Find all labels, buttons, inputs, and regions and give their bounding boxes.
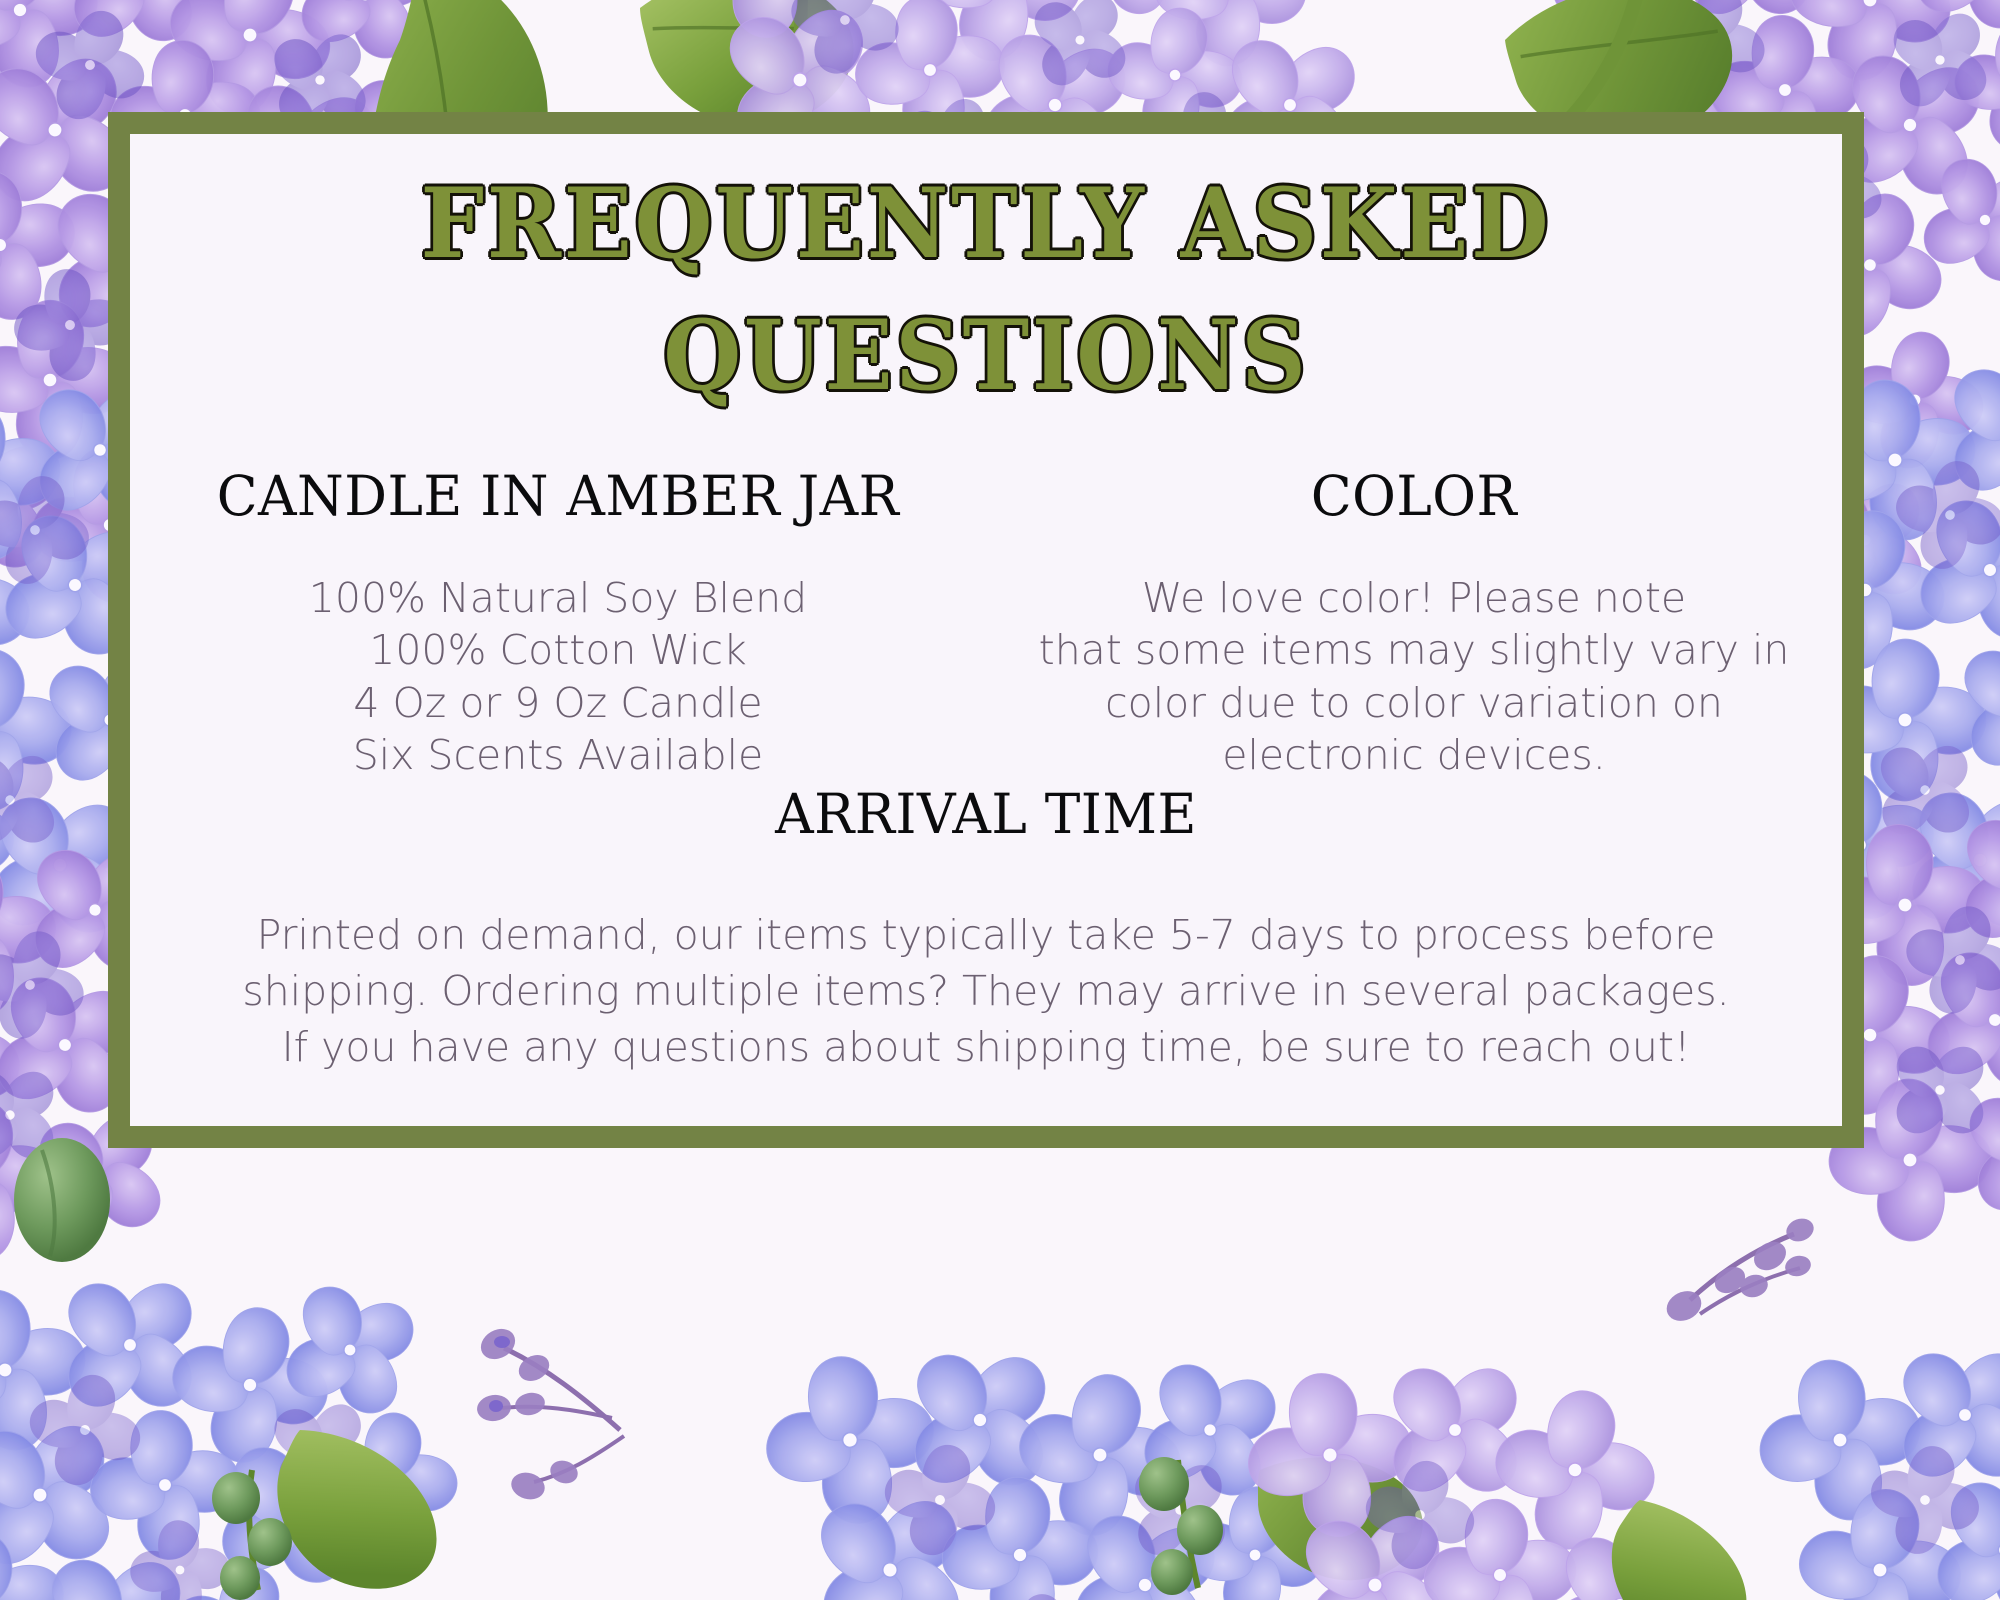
candle-line-3: 4 Oz or 9 Oz Candle — [156, 677, 960, 729]
color-line-2: that some items may slightly vary in — [1012, 624, 1816, 676]
candle-line-4: Six Scents Available — [156, 729, 960, 781]
section-candle: CANDLE IN AMBER JAR 100% Natural Soy Ble… — [130, 464, 986, 782]
content-card-frame: Frequently Asked Questions CANDLE IN AMB… — [108, 112, 1864, 1148]
faq-graphic: Frequently Asked Questions CANDLE IN AMB… — [0, 0, 2000, 1600]
color-line-4: electronic devices. — [1012, 729, 1816, 781]
arrival-line-3: If you have any questions about shipping… — [130, 1020, 1842, 1076]
arrival-line-1: Printed on demand, our items typically t… — [130, 908, 1842, 964]
faq-columns: CANDLE IN AMBER JAR 100% Natural Soy Ble… — [130, 464, 1842, 782]
content-card: Frequently Asked Questions CANDLE IN AMB… — [130, 134, 1842, 1126]
section-heading-color: COLOR — [1024, 464, 1804, 528]
candle-line-1: 100% Natural Soy Blend — [156, 572, 960, 624]
page-title-line-1: Frequently Asked — [190, 158, 1782, 290]
section-heading-arrival: ARRIVAL TIME — [156, 782, 1817, 846]
candle-line-2: 100% Cotton Wick — [156, 624, 960, 676]
color-line-1: We love color! Please note — [1012, 572, 1816, 624]
page-title-line-2: Questions — [190, 290, 1782, 422]
section-color: COLOR We love color! Please note that so… — [986, 464, 1842, 782]
section-heading-candle: CANDLE IN AMBER JAR — [168, 464, 948, 528]
color-line-3: color due to color variation on — [1012, 677, 1816, 729]
section-body-arrival: Printed on demand, our items typically t… — [130, 908, 1842, 1075]
arrival-line-2: shipping. Ordering multiple items? They … — [130, 964, 1842, 1020]
section-body-color: We love color! Please note that some ite… — [1012, 572, 1816, 782]
flower-bud — [14, 1138, 110, 1262]
section-arrival: ARRIVAL TIME Printed on demand, our item… — [130, 782, 1842, 1075]
section-body-candle: 100% Natural Soy Blend 100% Cotton Wick … — [156, 572, 960, 782]
page-title: Frequently Asked Questions — [130, 158, 1842, 423]
